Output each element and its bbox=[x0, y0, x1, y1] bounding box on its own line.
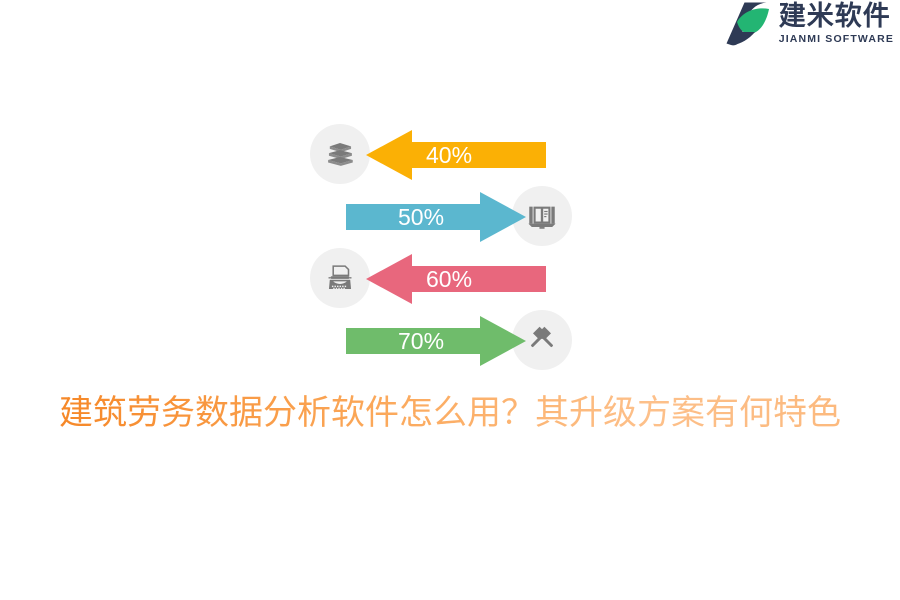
arrow-60: 60% bbox=[366, 254, 546, 304]
page-title: 建筑劳务数据分析软件怎么用？其升级方案有何特色 bbox=[0, 385, 900, 434]
arrow-percent-label: 70% bbox=[398, 316, 444, 366]
brand-text: 建米软件 JIANMI SOFTWARE bbox=[779, 3, 894, 45]
infographic-row: 40% bbox=[310, 124, 582, 186]
stacked-books-icon bbox=[310, 124, 370, 184]
brand-name-cn: 建米软件 bbox=[779, 3, 894, 30]
arrow-percent-label: 40% bbox=[426, 130, 472, 180]
typewriter-icon bbox=[310, 248, 370, 308]
arrow-70: 70% bbox=[346, 316, 526, 366]
percentage-arrow-infographic: 40% 50% bbox=[310, 124, 582, 376]
arrow-50: 50% bbox=[346, 192, 526, 242]
arrow-percent-label: 50% bbox=[398, 192, 444, 242]
jianmi-logo-mark-icon bbox=[725, 1, 773, 47]
brand-name-en: JIANMI SOFTWARE bbox=[779, 34, 894, 45]
brand-logo: 建米软件 JIANMI SOFTWARE bbox=[725, 0, 894, 48]
infographic-row: 70% bbox=[310, 310, 582, 372]
arrow-40: 40% bbox=[366, 130, 546, 180]
arrow-percent-label: 60% bbox=[426, 254, 472, 304]
infographic-row: 60% bbox=[310, 248, 582, 310]
infographic-row: 50% bbox=[310, 186, 582, 248]
